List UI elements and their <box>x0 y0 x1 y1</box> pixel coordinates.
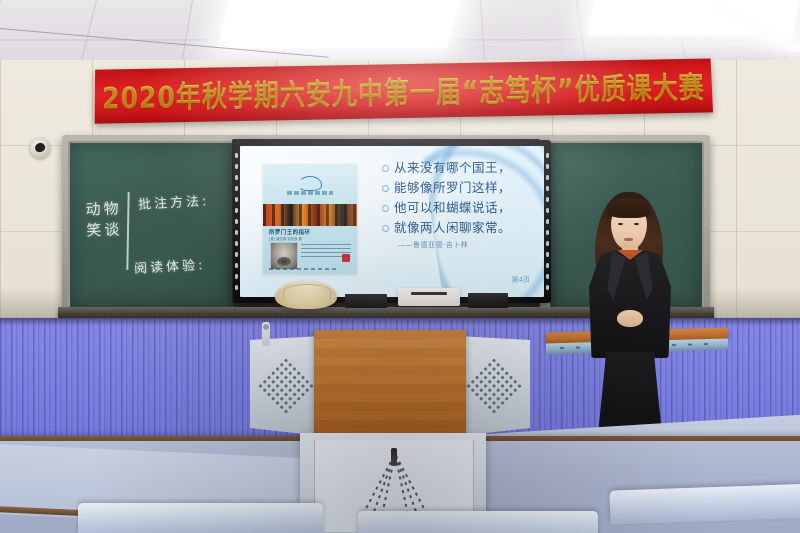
student-desk-left <box>78 503 323 533</box>
slide-book-cover-image: 所罗门王的指环 [奥] 康拉德·劳伦兹 著 <box>263 164 357 274</box>
teacher-hair-fringe <box>607 198 651 218</box>
teacher-hands <box>617 310 643 327</box>
slide-line-text: 能够像所罗门这样， <box>394 180 511 195</box>
teacher-mouth <box>624 238 633 241</box>
podium-mic-post <box>262 322 270 346</box>
podium-lock-icon[interactable] <box>391 448 397 466</box>
teacher-jacket <box>589 250 671 358</box>
book-author-portrait <box>270 242 298 270</box>
podium-wing-right <box>458 336 530 436</box>
podium-wood-front <box>314 330 466 434</box>
classroom-photo: 2020年秋学期六安九中第一届“志笃杯”优质课大赛 动物 笑谈 批注方法: 阅读… <box>0 0 800 533</box>
chalk-topic-line1: 动物 <box>85 198 122 220</box>
chalk-text-experience: 阅读体验: <box>134 254 206 277</box>
projection-slide: 所罗门王的指环 [奥] 康拉德·劳伦兹 著 从来没有哪个国王， 能够像所罗门这样… <box>240 146 544 297</box>
bullet-icon <box>382 225 389 232</box>
event-banner: 2020年秋学期六安九中第一届“志笃杯”优质课大赛 <box>95 58 713 123</box>
podium-wing-left <box>250 336 322 436</box>
interactive-whiteboard[interactable]: 所罗门王的指环 [奥] 康拉德·劳伦兹 著 从来没有哪个国王， 能够像所罗门这样… <box>233 140 551 303</box>
ir-sensor-strip-right <box>546 150 549 292</box>
book-cover-band <box>263 204 357 226</box>
slide-line-text: 就像两人闲聊家常。 <box>394 220 511 235</box>
bullet-icon <box>382 165 389 172</box>
slide-attribution: ——鲁德亚德·吉卜林 <box>398 240 532 250</box>
book-logo-icon <box>298 176 322 191</box>
book-title: 所罗门王的指环 <box>269 228 310 236</box>
bullet-icon <box>382 205 389 212</box>
ceiling <box>0 0 800 66</box>
book-logo-text <box>287 191 333 195</box>
chalk-text-topic: 动物 笑谈 <box>85 198 122 241</box>
slide-line: 就像两人闲聊家常。 <box>382 220 532 235</box>
publisher-stamp-icon <box>342 254 350 262</box>
chalk-text-method: 批注方法: <box>138 190 210 213</box>
slide-line-text: 从来没有哪个国王， <box>394 160 511 175</box>
event-banner-text: 2020年秋学期六安九中第一届“志笃杯”优质课大赛 <box>102 64 705 117</box>
ceiling-light-panel-left <box>217 0 462 48</box>
slide-line: 他可以和蝴蝶说话， <box>382 200 532 215</box>
slide-text-block: 从来没有哪个国王， 能够像所罗门这样， 他可以和蝴蝶说话， 就像两人闲聊家常。 … <box>382 160 532 250</box>
bullet-icon <box>382 185 389 192</box>
speaker-grille-icon <box>464 356 523 415</box>
slide-line: 从来没有哪个国王， <box>382 160 532 175</box>
slide-line: 能够像所罗门这样， <box>382 180 532 195</box>
chalk-topic-line2: 笑谈 <box>86 219 123 241</box>
slide-page-mark: 第4页 <box>512 275 530 285</box>
student-desk-right <box>609 483 800 524</box>
ir-sensor-strip-left <box>235 150 238 292</box>
slide-line-text: 他可以和蝴蝶说话， <box>394 200 511 215</box>
security-camera-icon <box>30 138 50 158</box>
book-cover-top <box>263 164 357 204</box>
book-footer-text <box>269 268 339 270</box>
book-subtitle: [奥] 康拉德·劳伦兹 著 <box>269 236 302 241</box>
student-desk-center <box>358 511 598 533</box>
multimedia-podium[interactable] <box>240 300 540 500</box>
speaker-grille-icon <box>256 356 315 415</box>
